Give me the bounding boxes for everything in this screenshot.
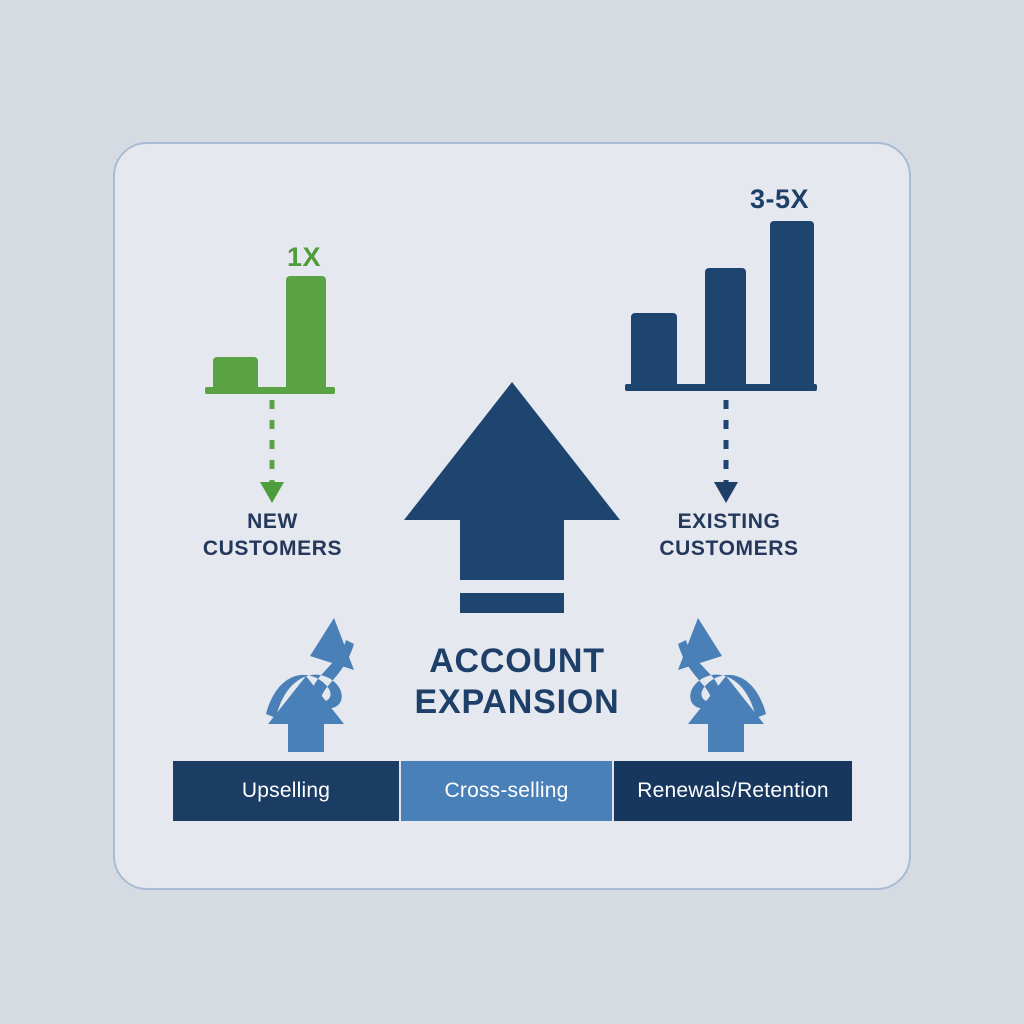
new-customers-caption: NEW CUSTOMERS bbox=[175, 508, 370, 562]
bar-chart-baseline bbox=[625, 384, 817, 391]
existing-customers-caption: EXISTING CUSTOMERS bbox=[629, 508, 829, 562]
upselling-growth-arrow-icon bbox=[258, 614, 366, 762]
renewals-growth-arrow-icon bbox=[666, 614, 774, 762]
strip-segment-renewals-retention[interactable]: Renewals/Retention bbox=[614, 761, 852, 821]
bar-chart-column bbox=[631, 313, 677, 387]
bar-chart-baseline bbox=[205, 387, 335, 394]
infographic-canvas: 1X NEW CUSTOMERS 3-5X EXISTING CUSTOMERS… bbox=[0, 0, 1024, 1024]
page-title: ACCOUNT EXPANSION bbox=[352, 641, 682, 723]
strip-segment-label: Upselling bbox=[242, 779, 330, 803]
strip-segment-upselling[interactable]: Upselling bbox=[173, 761, 399, 821]
new-customers-multiplier-label: 1X bbox=[287, 242, 321, 273]
existing-customers-multiplier-label: 3-5X bbox=[750, 184, 809, 215]
strip-segment-label: Cross-selling bbox=[445, 779, 569, 803]
bar-chart-column bbox=[705, 268, 746, 387]
bar-chart-column bbox=[770, 221, 814, 387]
existing-customers-connector-arrow bbox=[706, 398, 746, 508]
existing-customers-bar-chart bbox=[625, 215, 815, 393]
strip-segment-label: Renewals/Retention bbox=[637, 779, 829, 803]
account-expansion-up-arrow-icon bbox=[398, 378, 626, 613]
bar-chart-column bbox=[213, 357, 258, 390]
expansion-levers-strip: Upselling Cross-selling Renewals/Retenti… bbox=[173, 761, 852, 821]
strip-segment-cross-selling[interactable]: Cross-selling bbox=[399, 761, 614, 821]
bar-chart-column bbox=[286, 276, 326, 390]
new-customers-connector-arrow bbox=[252, 398, 292, 508]
